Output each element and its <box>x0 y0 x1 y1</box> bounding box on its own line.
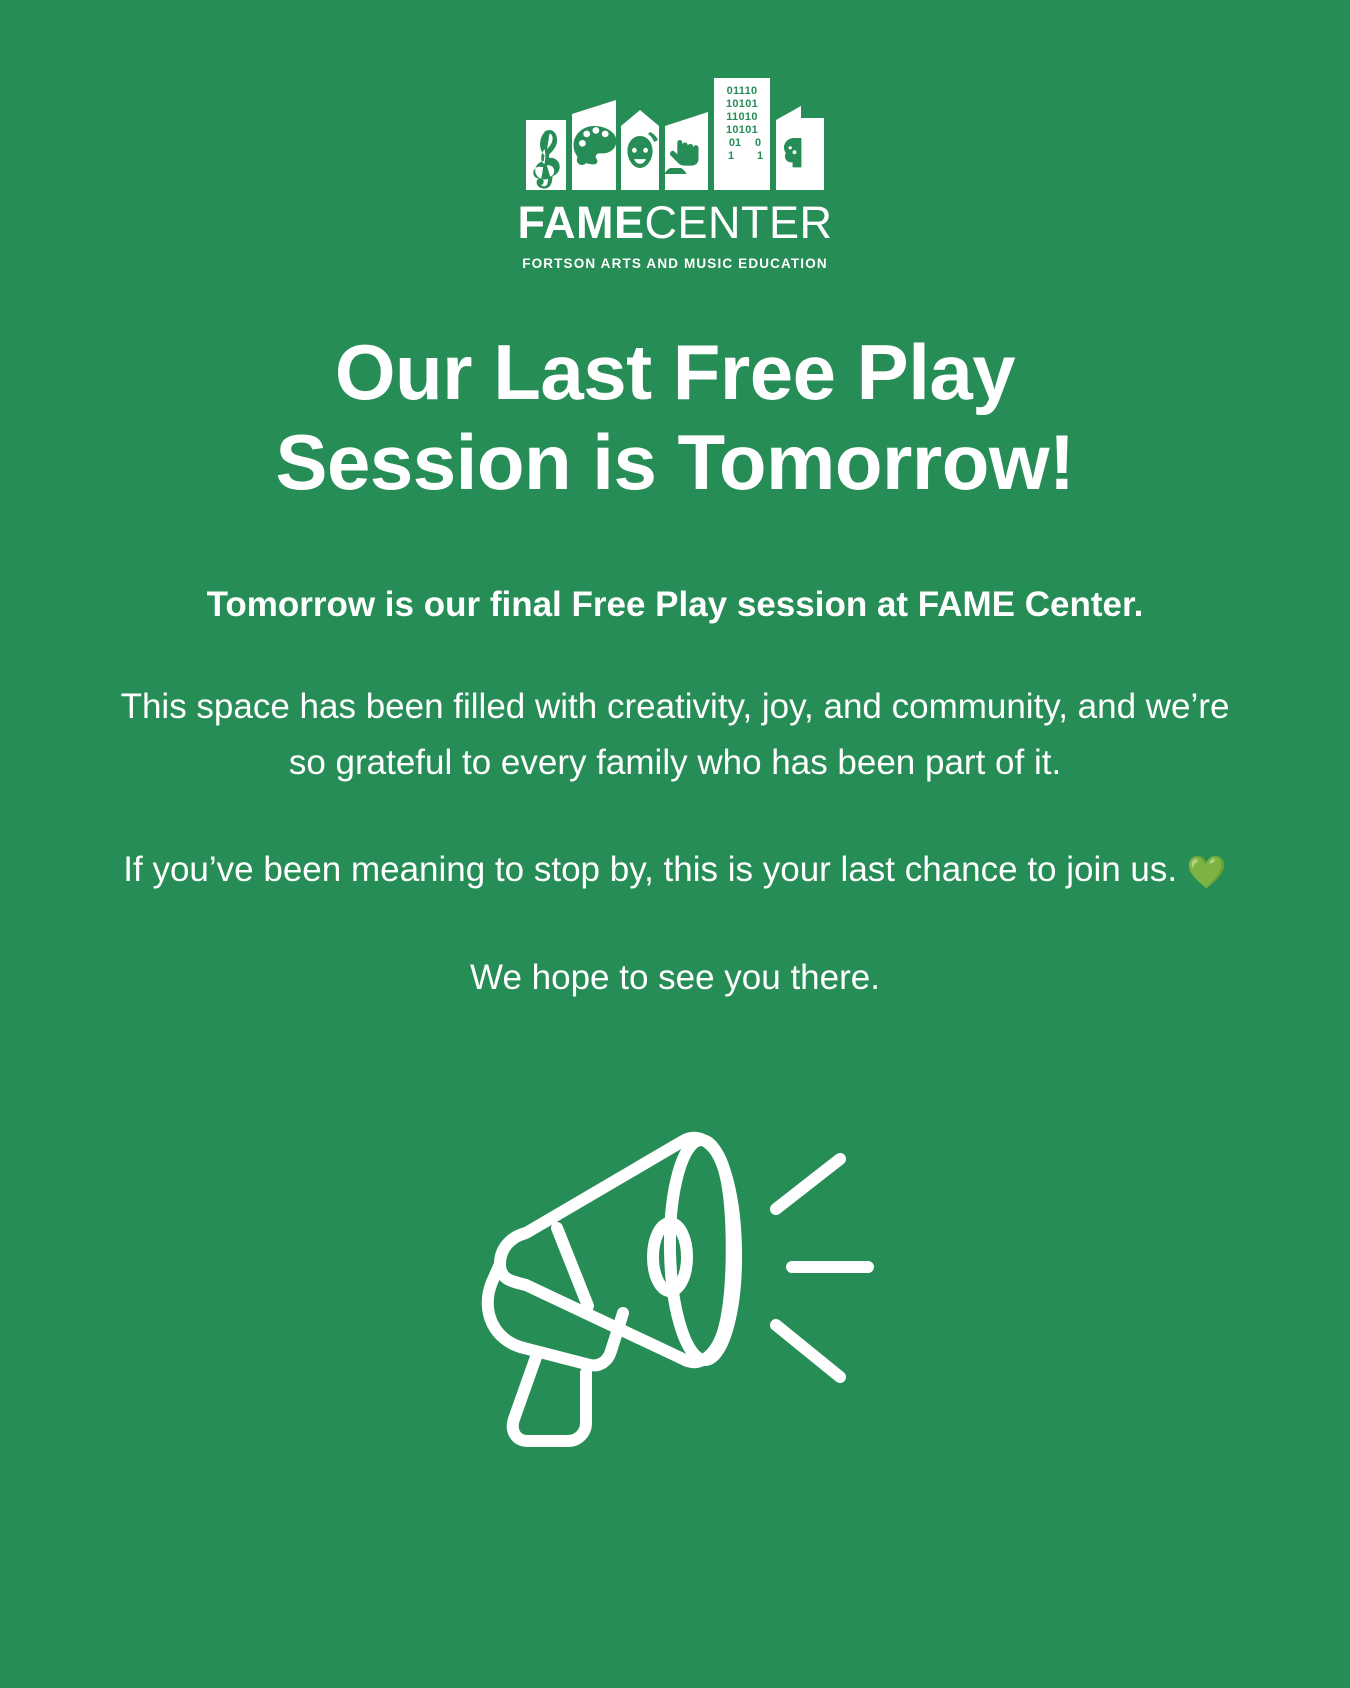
svg-text:01110: 01110 <box>727 85 758 97</box>
brand-logo: 01110 10101 11010 10101 01 0 1 1 FAMECEN… <box>517 78 832 271</box>
svg-text:01: 01 <box>729 137 741 149</box>
logo-wordmark-light: CENTER <box>645 197 833 248</box>
svg-text:1: 1 <box>728 150 734 162</box>
subheading: Tomorrow is our final Free Play session … <box>85 582 1265 628</box>
body-paragraph-2: If you’ve been meaning to stop by, this … <box>100 842 1250 898</box>
page-title: Our Last Free Play Session is Tomorrow! <box>155 327 1195 508</box>
headline-line-2: Session is Tomorrow! <box>155 417 1195 507</box>
logo-wordmark: FAMECENTER <box>517 200 832 245</box>
svg-text:10101: 10101 <box>726 98 758 110</box>
green-heart-icon: 💚 <box>1187 854 1227 890</box>
svg-text:10101: 10101 <box>726 124 758 136</box>
svg-text:0: 0 <box>755 137 761 149</box>
fame-center-skyline-logo-icon: 01110 10101 11010 10101 01 0 1 1 <box>520 78 830 190</box>
body-paragraph-2-text: If you’ve been meaning to stop by, this … <box>123 850 1177 889</box>
headline-line-1: Our Last Free Play <box>155 327 1195 417</box>
megaphone-icon <box>440 1089 910 1449</box>
svg-text:1: 1 <box>757 150 763 162</box>
megaphone-illustration <box>440 1089 910 1449</box>
logo-tagline: FORTSON ARTS AND MUSIC EDUCATION <box>522 256 828 271</box>
body-paragraph-3: We hope to see you there. <box>100 950 1250 1005</box>
poster-canvas: 01110 10101 11010 10101 01 0 1 1 FAMECEN… <box>0 0 1350 1688</box>
body-copy: This space has been filled with creativi… <box>100 679 1250 1004</box>
svg-text:11010: 11010 <box>726 111 757 123</box>
body-paragraph-1: This space has been filled with creativi… <box>100 679 1250 790</box>
logo-wordmark-bold: FAME <box>517 197 644 248</box>
